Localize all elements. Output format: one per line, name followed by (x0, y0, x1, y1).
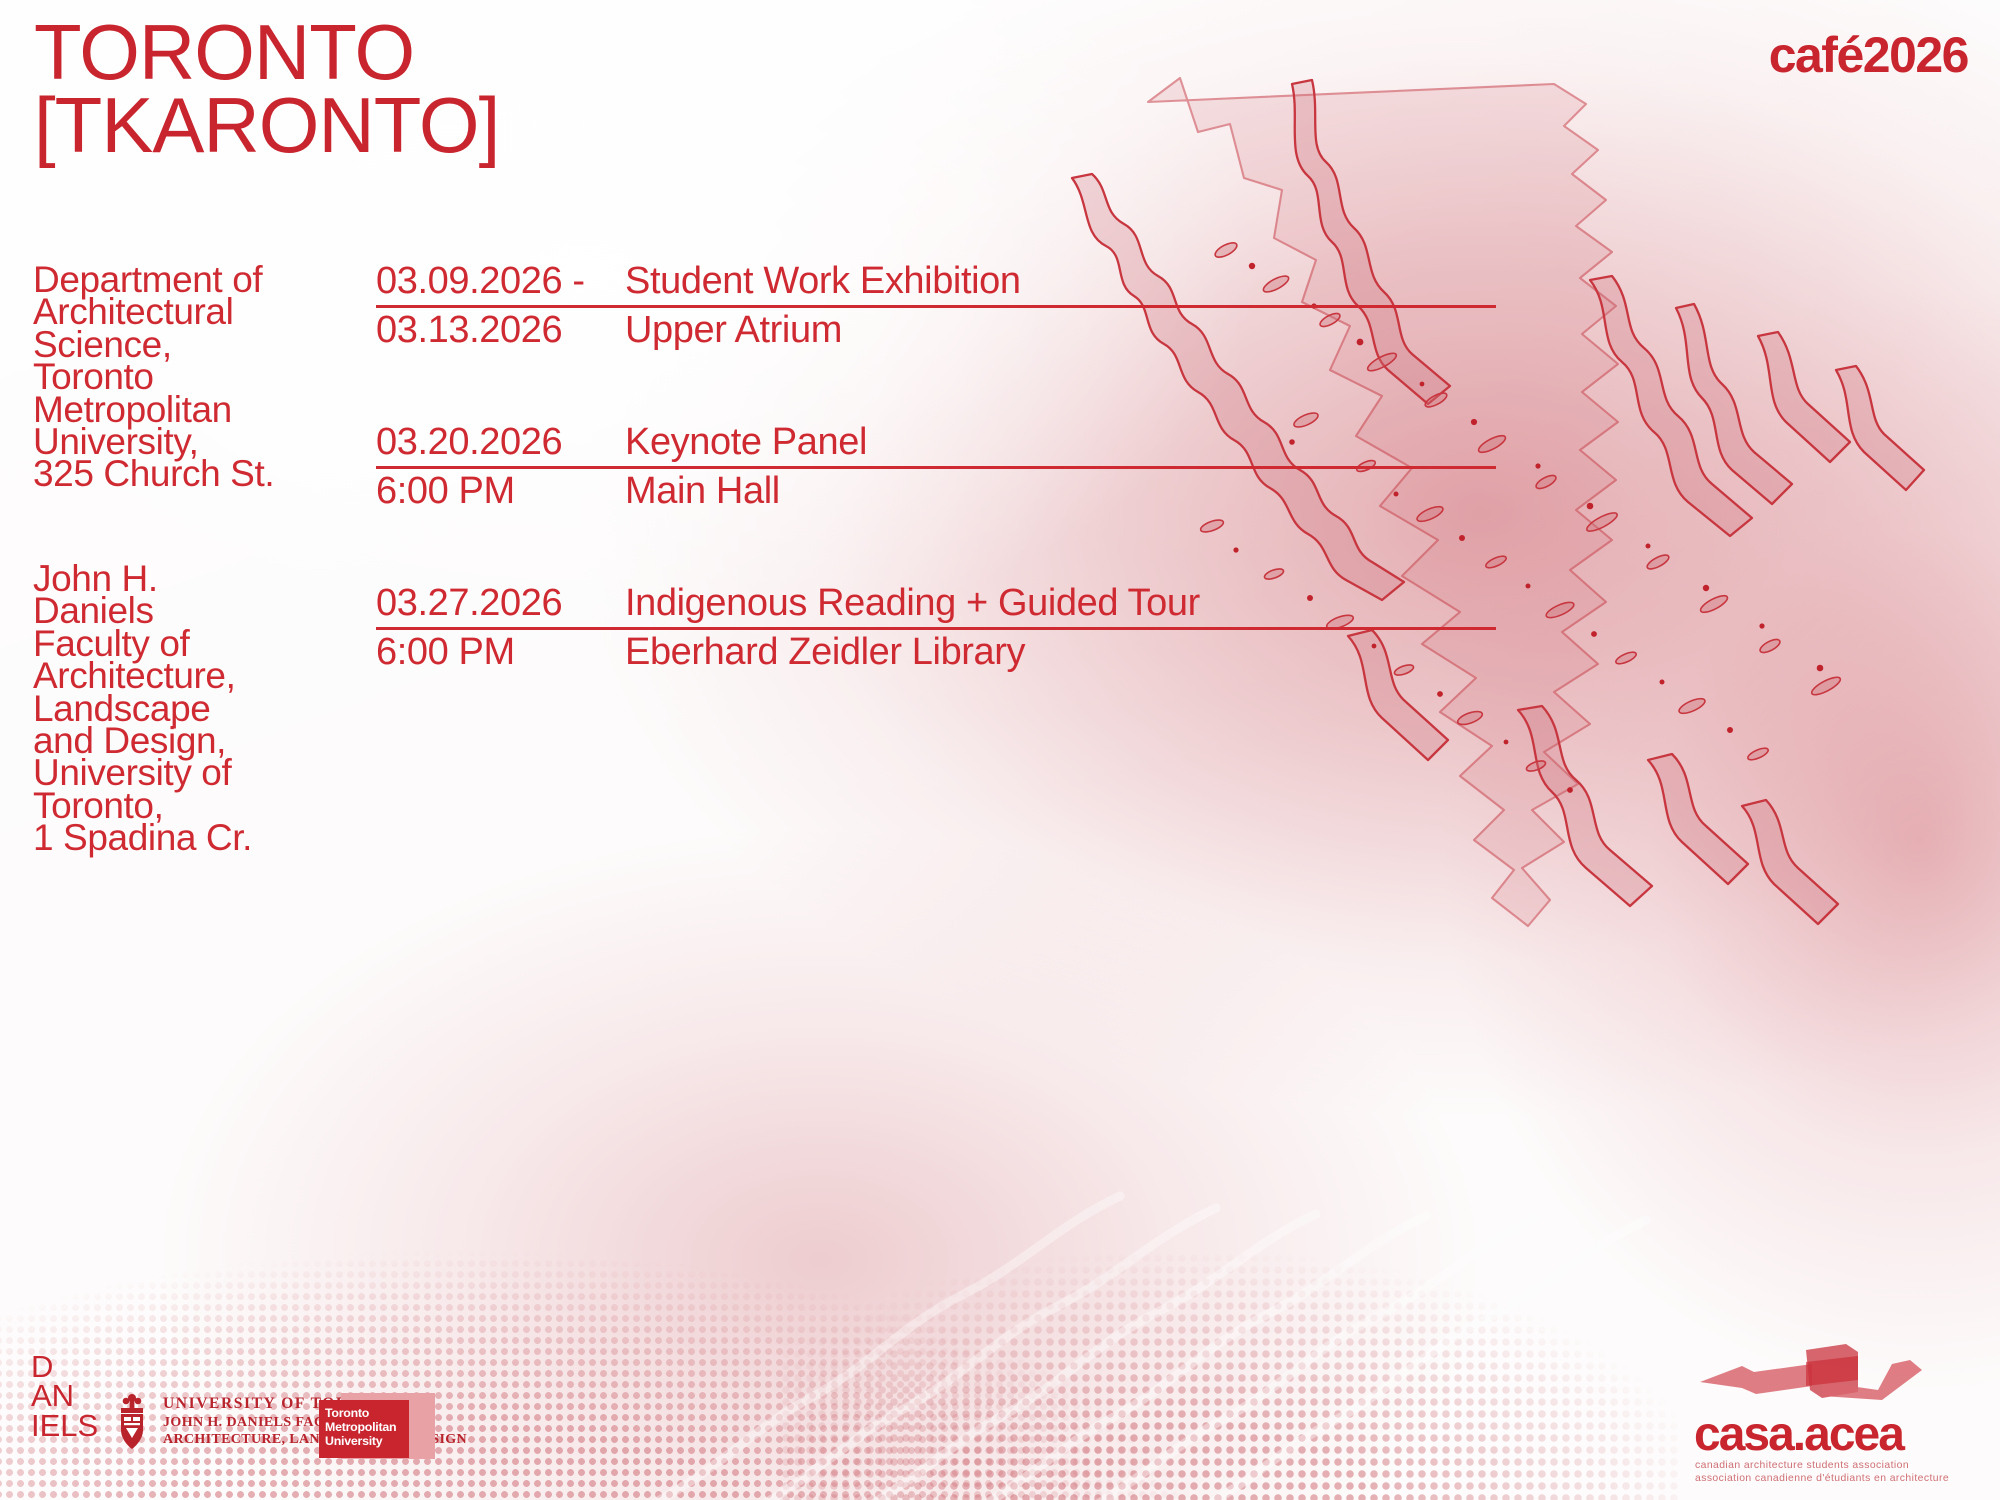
schedule-row[interactable]: 03.27.2026 Indigenous Reading + Guided T… (376, 584, 1496, 671)
page-title: TORONTO [TKARONTO] (34, 16, 499, 161)
schedule-row[interactable]: 03.20.2026 Keynote Panel 6:00 PM Main Ha… (376, 423, 1496, 510)
tmu-logo-box: Toronto Metropolitan University (319, 1400, 409, 1458)
venue-address-daniels: John H. Daniels Faculty of Architecture,… (33, 563, 363, 854)
event-divider (376, 305, 1496, 308)
casa-acea-wordmark: casa.acea (1694, 1412, 1972, 1458)
event-divider (376, 627, 1496, 630)
event-name: Indigenous Reading + Guided Tour (625, 584, 1200, 622)
event-location: Main Hall (625, 472, 780, 510)
event-location: Eberhard Zeidler Library (625, 633, 1025, 671)
casa-acea-subtitle: canadian architecture students associati… (1695, 1459, 1972, 1486)
daniels-wordmark: D AN IELS (31, 1352, 98, 1440)
event-name: Student Work Exhibition (625, 262, 1021, 300)
event-time: 6:00 PM (376, 472, 625, 510)
event-date: 03.27.2026 (376, 584, 625, 622)
tmu-logo-text: Toronto Metropolitan University (319, 1400, 409, 1449)
event-date: 03.09.2026 - (376, 262, 625, 300)
casa-acea-logo: casa.acea canadian architecture students… (1672, 1338, 1972, 1486)
event-date: 03.20.2026 (376, 423, 625, 461)
event-divider (376, 466, 1496, 469)
event-schedule: 03.09.2026 - Student Work Exhibition 03.… (376, 262, 1496, 671)
halftone-dot-pattern-secondary (780, 1120, 1680, 1500)
event-name: Keynote Panel (625, 423, 867, 461)
brand-wordmark: café2026 (1769, 26, 1968, 84)
schedule-row[interactable]: 03.09.2026 - Student Work Exhibition 03.… (376, 262, 1496, 349)
event-time: 03.13.2026 (376, 311, 625, 349)
event-time: 6:00 PM (376, 633, 625, 671)
casa-acea-mark-icon (1696, 1338, 1936, 1410)
uoft-crest-icon (110, 1393, 154, 1451)
event-location: Upper Atrium (625, 311, 842, 349)
venue-address-tmu: Department of Architectural Science, Tor… (33, 264, 363, 491)
poster-canvas: TORONTO [TKARONTO] café2026 Department o… (0, 0, 2000, 1500)
tmu-logo: Toronto Metropolitan University (319, 1400, 435, 1466)
